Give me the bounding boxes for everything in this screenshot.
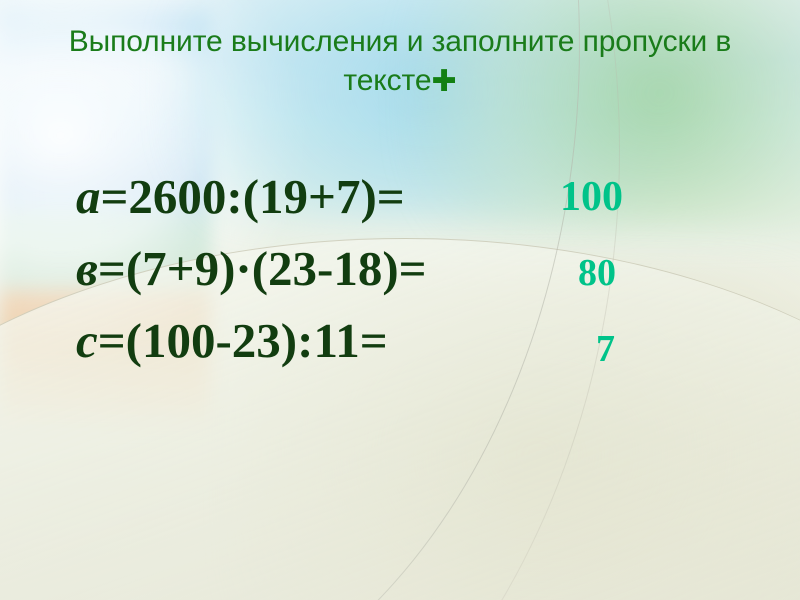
equation-row: а=2600:(19+7)= 100 [0, 166, 800, 238]
equation-variable: а [76, 169, 101, 224]
slide-title: Выполните вычисления и заполните пропуск… [0, 22, 800, 101]
equation-answer: 80 [578, 242, 616, 304]
equation-row: с=(100-23):11= 7 [0, 310, 800, 382]
equation-body: =(100-23):11= [98, 313, 388, 368]
equation-expression: с=(100-23):11= [76, 310, 388, 372]
equation-answer: 100 [560, 166, 623, 228]
equation-variable: в [76, 241, 98, 296]
equation-row: в=(7+9)·(23-18)= 80 [0, 238, 800, 310]
presentation-slide: Выполните вычисления и заполните пропуск… [0, 0, 800, 600]
equation-expression: а=2600:(19+7)= [76, 166, 405, 228]
equation-body: =(7+9)·(23-18)= [98, 241, 427, 296]
equation-variable: с [76, 313, 98, 368]
slide-title-text: Выполните вычисления и заполните пропуск… [69, 25, 740, 97]
cross-plus-icon: ✚ [431, 64, 456, 99]
equation-answer: 7 [596, 318, 615, 380]
equation-expression: в=(7+9)·(23-18)= [76, 238, 427, 300]
equation-body: =2600:(19+7)= [101, 169, 405, 224]
equation-list: а=2600:(19+7)= 100 в=(7+9)·(23-18)= 80 с… [0, 166, 800, 382]
